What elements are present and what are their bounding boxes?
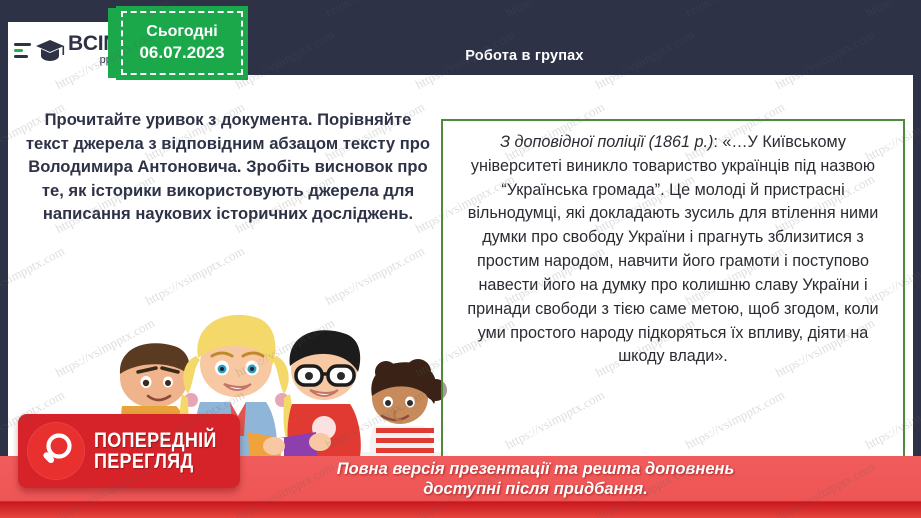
- purchase-banner-text: Повна версія презентації та решта доповн…: [216, 459, 856, 499]
- watermark-text: https://vsimpptx.com: [323, 0, 428, 21]
- slide-canvas: Робота в групах BCIM pptx Сьогодні 06.07…: [0, 0, 921, 518]
- watermark-text: https://vsimpptx.com: [683, 0, 788, 21]
- preview-badge[interactable]: ПОПЕРЕДНІЙ ПЕРЕГЛЯД: [18, 414, 240, 488]
- watermark-text: https://vsimpptx.com: [503, 0, 608, 21]
- watermark-text: https://vsimpptx.com: [863, 0, 921, 21]
- quote-panel: З доповідної поліції (1861 р.): «…У Київ…: [441, 119, 905, 460]
- date-badge-label: Сьогодні: [146, 23, 217, 41]
- quote-text: З доповідної поліції (1861 р.): «…У Київ…: [457, 131, 889, 369]
- graduation-cap-icon: [33, 33, 67, 67]
- quote-body: : «…У Київському університеті виникло то…: [467, 133, 878, 365]
- purchase-banner-line1: Повна версія презентації та решта доповн…: [216, 459, 856, 479]
- quote-source: З доповідної поліції (1861 р.): [500, 133, 713, 151]
- logo-speed-lines-icon: [14, 43, 31, 58]
- watermark-text: https://vsimpptx.com: [0, 0, 67, 21]
- preview-badge-label: ПОПЕРЕДНІЙ ПЕРЕГЛЯД: [94, 430, 237, 472]
- child-4: [370, 359, 447, 466]
- date-badge: Сьогодні 06.07.2023: [116, 6, 248, 80]
- instruction-text: Прочитайте уривок з документа. Порівняйт…: [22, 108, 434, 226]
- purchase-banner-line2: доступні після придбання.: [216, 479, 856, 499]
- preview-badge-line2: ПЕРЕГЛЯД: [94, 451, 217, 472]
- date-badge-value: 06.07.2023: [139, 43, 224, 63]
- preview-badge-line1: ПОПЕРЕДНІЙ: [94, 430, 217, 451]
- magnifier-icon: [27, 422, 85, 480]
- page-title: Робота в групах: [355, 48, 583, 64]
